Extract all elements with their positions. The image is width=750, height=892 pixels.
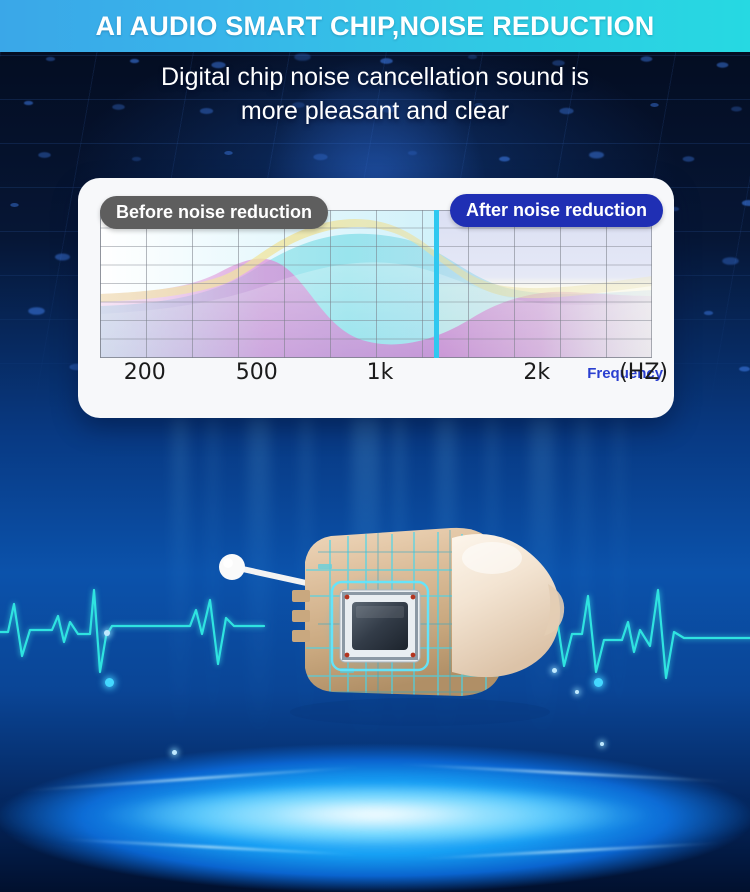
chart-plot-border xyxy=(100,210,652,358)
axis-tick-1k: 1k xyxy=(367,360,394,385)
chart-plot-area xyxy=(100,210,652,358)
promo-banner-page: AI AUDIO SMART CHIP,NOISE REDUCTION Digi… xyxy=(0,0,750,892)
headline-line-2: more pleasant and clear xyxy=(0,94,750,128)
header-banner: AI AUDIO SMART CHIP,NOISE REDUCTION xyxy=(0,0,750,52)
spark-dot xyxy=(172,750,177,755)
product-image-hearing-aid xyxy=(0,500,750,760)
axis-tick-200: 200 xyxy=(124,360,166,385)
headline-line-1: Digital chip noise cancellation sound is xyxy=(0,60,750,94)
before-after-divider-icon xyxy=(434,210,439,358)
spark-dot xyxy=(575,690,579,694)
badge-after-noise-reduction: After noise reduction xyxy=(450,194,663,227)
page-title: AI AUDIO SMART CHIP,NOISE REDUCTION xyxy=(95,11,654,42)
badge-before-noise-reduction: Before noise reduction xyxy=(100,196,328,229)
bottom-portal-core xyxy=(130,785,620,843)
spark-dot xyxy=(104,630,110,636)
spark-dot xyxy=(552,668,557,673)
axis-unit-hz: (HZ) xyxy=(619,360,668,385)
headline-text: Digital chip noise cancellation sound is… xyxy=(0,60,750,128)
chart-x-axis: 2005001k2kFrequency(HZ) xyxy=(100,360,660,394)
spark-dot xyxy=(600,742,604,746)
axis-tick-2k: 2k xyxy=(523,360,550,385)
axis-tick-500: 500 xyxy=(236,360,278,385)
